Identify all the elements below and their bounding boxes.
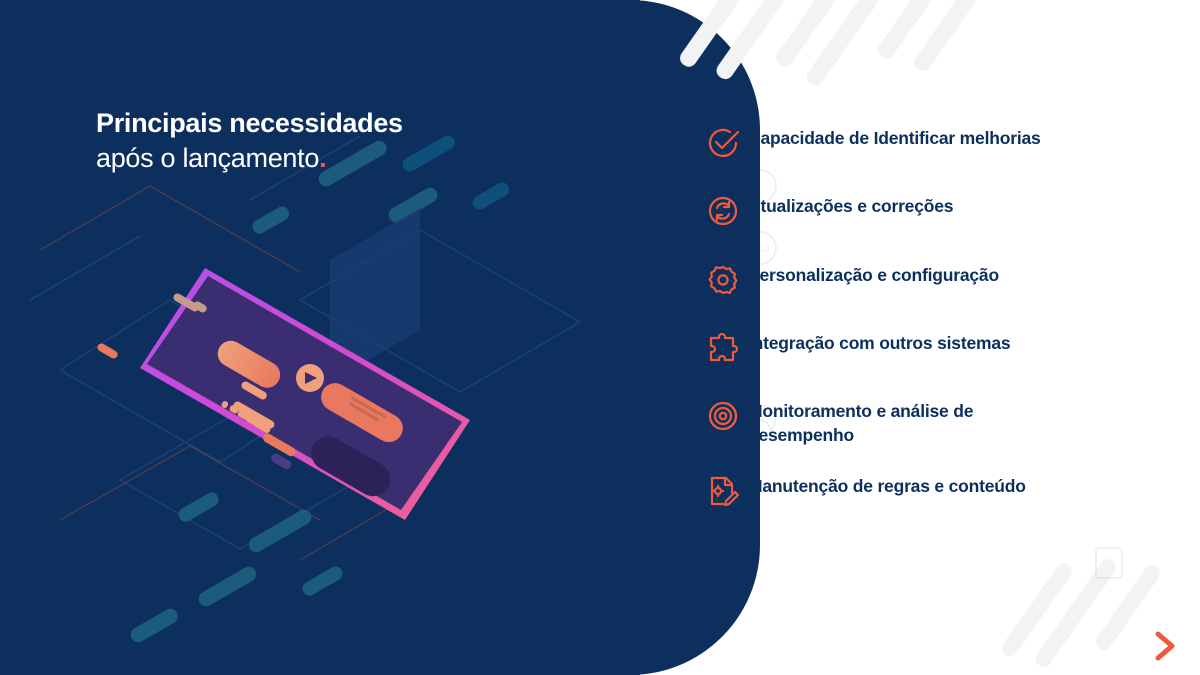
puzzle-icon: [706, 330, 748, 370]
check-circle-icon: [706, 125, 748, 165]
page-title: Principais necessidades após o lançament…: [96, 106, 616, 175]
refresh-circle-icon: [706, 193, 748, 233]
document-edit-icon: [706, 473, 748, 513]
title-line-1: Principais necessidades: [96, 106, 616, 141]
list-item[interactable]: Atualizações e correções: [706, 193, 1176, 233]
target-icon: [706, 398, 748, 438]
list-item-label: Monitoramento e análise de desempenho: [748, 398, 1033, 447]
list-item-label: Manutenção de regras e conteúdo: [748, 473, 1026, 498]
gear-icon: [706, 262, 748, 302]
list-item[interactable]: Capacidade de Identificar melhorias: [706, 125, 1176, 165]
list-item-label: Personalização e configuração: [748, 262, 999, 287]
slide: 404 Principais necessidades após o lança…: [0, 0, 1200, 675]
needs-list: Capacidade de Identificar melhorias Atua…: [706, 125, 1176, 513]
list-item-label: Atualizações e correções: [748, 193, 953, 218]
list-item[interactable]: Personalização e configuração: [706, 262, 1176, 302]
title-accent-dot: .: [319, 143, 326, 173]
list-item-label: Capacidade de Identificar melhorias: [748, 125, 1041, 150]
list-item[interactable]: Manutenção de regras e conteúdo: [706, 473, 1176, 513]
list-item[interactable]: Integração com outros sistemas: [706, 330, 1176, 370]
list-item-label: Integração com outros sistemas: [748, 330, 1010, 355]
list-item[interactable]: Monitoramento e análise de desempenho: [706, 398, 1176, 447]
decorative-stripes-bottom-right: [999, 556, 1163, 670]
title-line-2: após o lançamento.: [96, 141, 616, 176]
chevron-right-icon: [1158, 634, 1172, 658]
